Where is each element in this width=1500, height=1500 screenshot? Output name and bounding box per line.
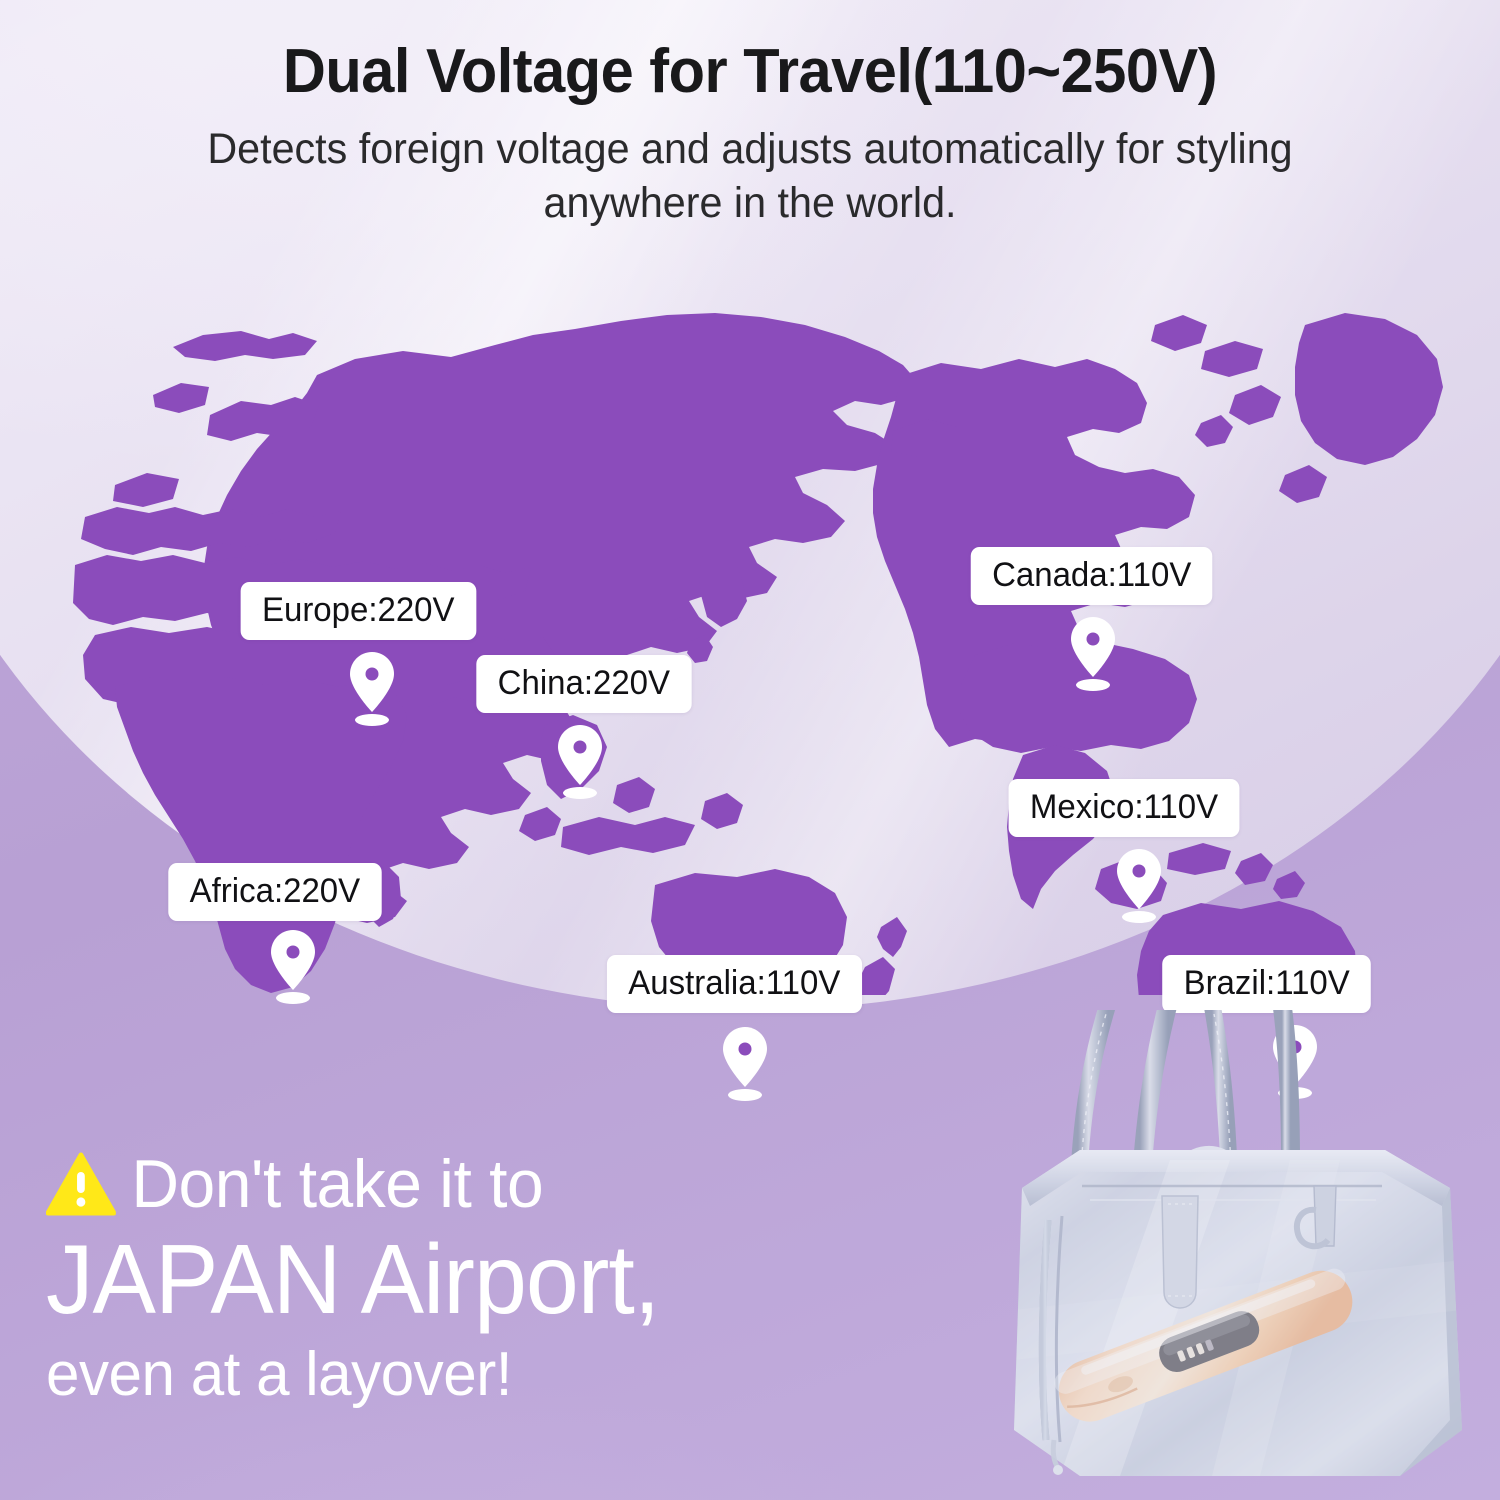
map-pin-china[interactable] [552,723,608,799]
warning-line-1: Don't take it to [46,1150,900,1218]
product-bag-with-straightener [930,1010,1500,1500]
warning-line-2: JAPAN Airport, [46,1230,900,1330]
map-pin-australia[interactable] [717,1025,773,1101]
warning-line-1-text: Don't take it to [131,1150,543,1218]
page-title: Dual Voltage for Travel(110~250V) [30,36,1470,107]
map-pin-europe[interactable] [344,650,400,726]
map-pin-mexico[interactable] [1111,847,1167,923]
top-section-content: Dual Voltage for Travel(110~250V) Detect… [0,0,1500,1000]
page-subtitle: Detects foreign voltage and adjusts auto… [136,123,1365,231]
map-label-africa[interactable]: Africa:220V [168,863,381,921]
map-label-canada[interactable]: Canada:110V [971,547,1213,605]
infographic-poster: Dual Voltage for Travel(110~250V) Detect… [0,0,1500,1500]
map-label-brazil[interactable]: Brazil:110V [1162,955,1371,1013]
map-pin-africa[interactable] [265,928,321,1004]
map-label-australia[interactable]: Australia:110V [607,955,862,1013]
map-pin-canada[interactable] [1065,615,1121,691]
map-label-europe[interactable]: Europe:220V [241,582,476,640]
map-label-china[interactable]: China:220V [476,655,691,713]
warning-triangle-icon [46,1152,116,1216]
map-label-mexico[interactable]: Mexico:110V [1009,779,1240,837]
warning-line-3: even at a layover! [46,1344,900,1406]
world-map: Europe:220V China:220V Africa:220V Austr… [55,255,1455,995]
warning-text-block: Don't take it to JAPAN Airport, even at … [46,1150,900,1406]
